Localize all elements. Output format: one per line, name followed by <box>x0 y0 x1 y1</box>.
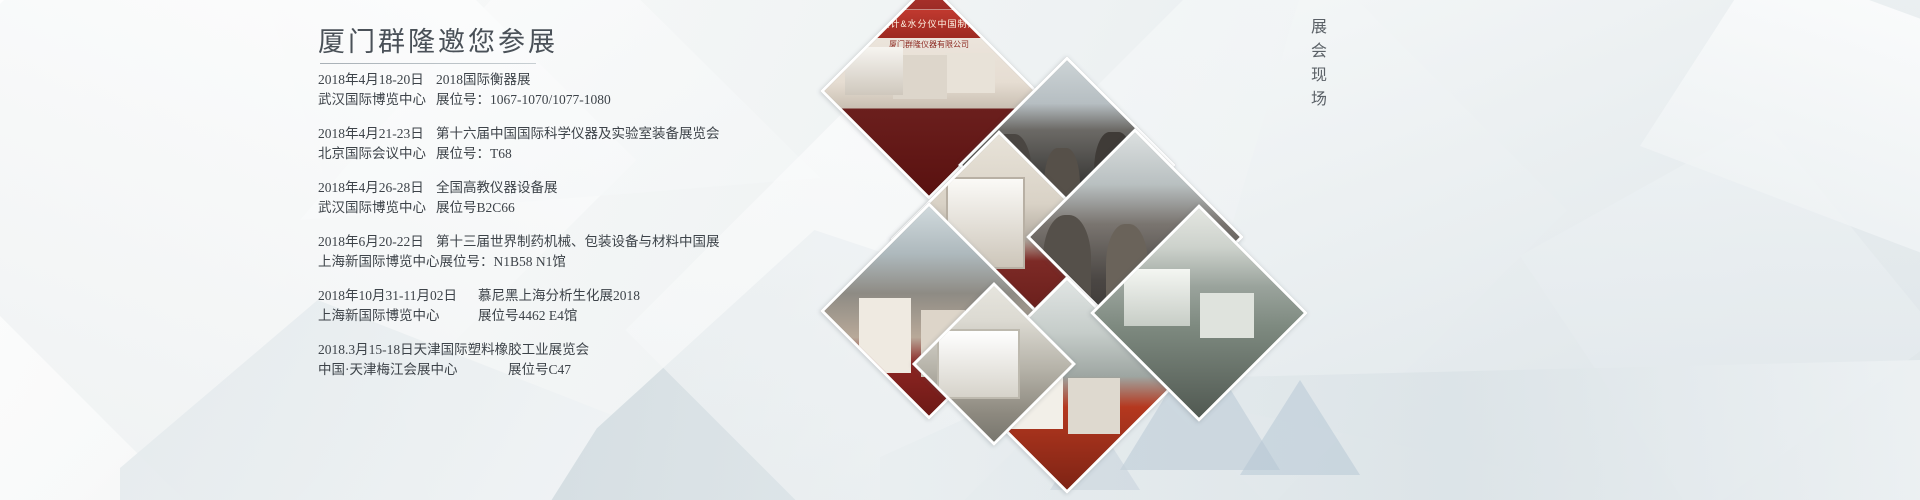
event-line-top: 2018年4月26-28日全国高教仪器设备展 <box>318 178 878 198</box>
event-booth: 展位号B2C66 <box>436 198 515 218</box>
event-name: 第十三届世界制药机械、包装设备与材料中国展 <box>436 232 720 252</box>
event-line-bottom: 武汉国际博览中心展位号B2C66 <box>318 198 878 218</box>
event-venue: 武汉国际博览中心 <box>318 90 436 110</box>
event-line-top: 2018年4月21-23日第十六届中国国际科学仪器及实验室装备展览会 <box>318 124 878 144</box>
event-date: 2018年6月20-22日 <box>318 232 436 252</box>
event-date: 2018年4月26-28日 <box>318 178 436 198</box>
event-line-bottom: 武汉国际博览中心展位号：1067-1070/1077-1080 <box>318 90 878 110</box>
event-name: 2018国际衡器展 <box>436 70 531 90</box>
event-date: 2018年4月18-20日 <box>318 70 436 90</box>
event-venue: 上海新国际博览中心 <box>318 306 478 326</box>
vertical-caption: 展会现场 <box>1304 18 1328 114</box>
event-venue: 上海新国际博览中心 <box>318 252 440 272</box>
text-content: 厦门群隆邀您参展 2018年4月18-20日2018国际衡器展 武汉国际博览中心… <box>0 0 900 500</box>
event-venue: 北京国际会议中心 <box>318 144 436 164</box>
event-line-bottom: 上海新国际博览中心展位号4462 E4馆 <box>318 306 878 326</box>
event-line-top: 2018年10月31-11月02日慕尼黑上海分析生化展2018 <box>318 286 878 306</box>
page-title: 厦门群隆邀您参展 <box>318 20 558 59</box>
event-booth: 展位号4462 E4馆 <box>478 306 577 326</box>
booth-banner-subtitle: 厦门群隆仪器有限公司 <box>820 38 1038 51</box>
event-date: 2018年10月31-11月02日 <box>318 286 478 306</box>
event-line-bottom: 北京国际会议中心展位号：T68 <box>318 144 878 164</box>
event-booth: 展位号：1067-1070/1077-1080 <box>436 90 611 110</box>
event-name: 第十六届中国国际科学仪器及实验室装备展览会 <box>436 124 720 144</box>
event-name: 慕尼黑上海分析生化展2018 <box>478 286 640 306</box>
event-item: 2018年6月20-22日第十三届世界制药机械、包装设备与材料中国展 上海新国际… <box>318 232 878 272</box>
event-item: 2018年4月21-23日第十六届中国国际科学仪器及实验室装备展览会 北京国际会… <box>318 124 878 164</box>
event-booth: 展位号：T68 <box>436 144 512 164</box>
photo-collage: 密度计&水分仪中国制造商 厦门群隆仪器有限公司 <box>830 0 1250 500</box>
title-divider <box>320 63 536 64</box>
event-venue: 武汉国际博览中心 <box>318 198 436 218</box>
event-line-bottom: 中国·天津梅江会展中心展位号C47 <box>318 360 878 380</box>
event-date: 2018年4月21-23日 <box>318 124 436 144</box>
event-item: 2018.3月15-18日天津国际塑料橡胶工业展览会 中国·天津梅江会展中心展位… <box>318 340 878 380</box>
event-date: 2018.3月15-18日天津国际塑料橡胶工业展览会 <box>318 340 589 360</box>
event-venue: 中国·天津梅江会展中心 <box>318 360 508 380</box>
event-item: 2018年4月26-28日全国高教仪器设备展 武汉国际博览中心展位号B2C66 <box>318 178 878 218</box>
event-list: 2018年4月18-20日2018国际衡器展 武汉国际博览中心展位号：1067-… <box>318 66 878 394</box>
booth-banner-title: 密度计&水分仪中国制造商 <box>820 10 1038 38</box>
event-line-top: 2018年4月18-20日2018国际衡器展 <box>318 70 878 90</box>
event-line-top: 2018年6月20-22日第十三届世界制药机械、包装设备与材料中国展 <box>318 232 878 252</box>
event-item: 2018年10月31-11月02日慕尼黑上海分析生化展2018 上海新国际博览中… <box>318 286 878 326</box>
event-line-bottom: 上海新国际博览中心展位号：N1B58 N1馆 <box>318 252 878 272</box>
event-item: 2018年4月18-20日2018国际衡器展 武汉国际博览中心展位号：1067-… <box>318 70 878 110</box>
event-booth: 展位号：N1B58 N1馆 <box>440 252 566 272</box>
event-booth: 展位号C47 <box>508 360 571 380</box>
event-line-top: 2018.3月15-18日天津国际塑料橡胶工业展览会 <box>318 340 878 360</box>
exhibition-banner: 厦门群隆邀您参展 2018年4月18-20日2018国际衡器展 武汉国际博览中心… <box>0 0 1920 500</box>
event-name: 全国高教仪器设备展 <box>436 178 558 198</box>
booth-banner-strip: 密度计&水分仪中国制造商 <box>820 10 1038 39</box>
